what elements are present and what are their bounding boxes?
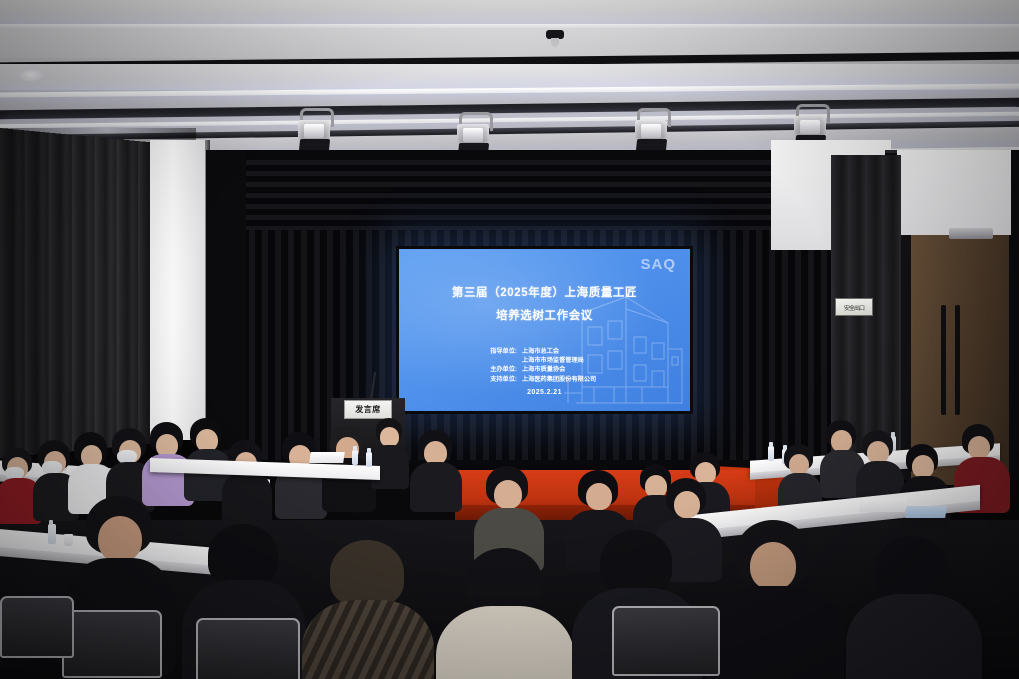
document-sheet (905, 506, 947, 518)
saq-logo: SAQ (640, 256, 676, 273)
conference-chair[interactable] (0, 596, 74, 658)
wall-pillar (150, 140, 208, 440)
credit-row: 支持单位:上海医药集团股份有限公司 (399, 375, 690, 384)
document-sheet (309, 452, 345, 463)
credit-value: 上海市质量协会 (517, 365, 614, 374)
slide-title-line1: 第三届（2025年度）上海质量工匠 (399, 284, 690, 300)
wall-recess (206, 150, 246, 450)
water-bottle (366, 452, 372, 467)
paper-cup (64, 534, 73, 546)
document-sheet (859, 498, 907, 512)
slide-credits: 指导单位:上海市总工会 上海市市场监督管理局 主办单位:上海市质量协会 支持单位… (399, 347, 690, 384)
credit-value: 上海医药集团股份有限公司 (517, 375, 614, 384)
slide-title-line2: 培养选树工作会议 (399, 307, 690, 323)
credit-value: 上海市总工会 (517, 347, 614, 356)
projection-screen: SAQ 第三届（2025年度）上海质量工匠 培养选树工作会议 指导单位:上海市总… (399, 249, 690, 411)
credit-row: 指导单位:上海市总工会 (399, 347, 690, 356)
credit-row: 上海市市场监督管理局 (399, 356, 690, 365)
credit-label: 主办单位: (475, 365, 517, 374)
credit-row: 主办单位:上海市质量协会 (399, 365, 690, 374)
water-bottle (768, 446, 774, 461)
right-wall-panel (896, 150, 1011, 235)
water-bottle (48, 524, 56, 544)
conference-chair[interactable] (612, 606, 720, 676)
podium-sign-label: 发言席 (355, 404, 381, 415)
slide-date: 2025.2.21 (399, 389, 690, 396)
ceiling-camera-icon (546, 30, 564, 39)
credit-label: 支持单位: (475, 375, 517, 384)
podium-sign: 发言席 (344, 400, 392, 419)
ceiling-panel (0, 0, 1019, 26)
conference-chair[interactable] (62, 610, 162, 678)
wall-sign: 安全出口 (835, 298, 873, 316)
conference-chair[interactable] (196, 618, 300, 679)
wall-sign-label: 安全出口 (844, 303, 864, 311)
conference-room-photo: 安全出口 SAQ 第三届（2025年度）上海质量工匠 培养选树工作会议 (0, 0, 1019, 679)
door-closer (949, 228, 993, 239)
credit-label: 指导单位: (475, 347, 517, 356)
water-bottle (352, 450, 358, 465)
credit-value: 上海市市场监督管理局 (517, 356, 614, 365)
recessed-downlight-icon (18, 68, 44, 81)
